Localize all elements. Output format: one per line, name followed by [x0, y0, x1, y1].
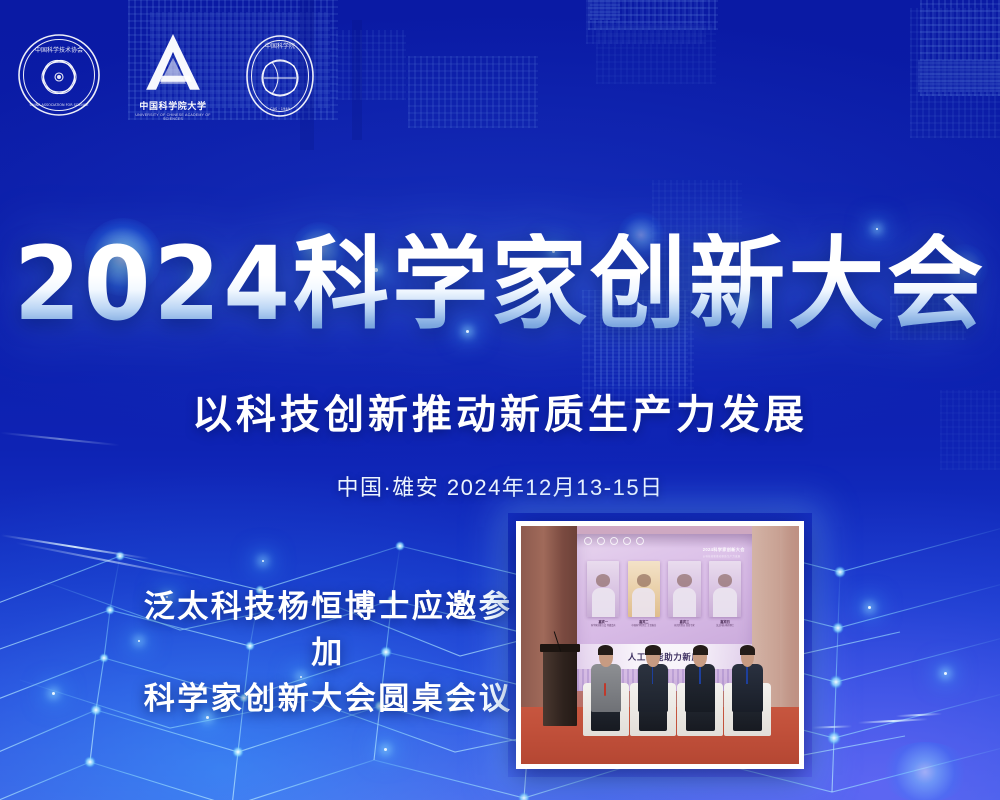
screen-logo-icon-4: [623, 537, 631, 545]
speaker-card: 嘉宾四 泛太科技 杨恒博士: [709, 561, 741, 643]
photo-panelist: [730, 645, 766, 731]
svg-text:中国科学院: 中国科学院: [265, 42, 295, 50]
screen-logo-icon-1: [584, 537, 592, 545]
speaker-role: 科学家创新大会 特邀嘉宾: [591, 625, 616, 628]
conference-poster: 中国科学技术协会 CHINA ASSOCIATION FOR SCIENCE 中…: [0, 0, 1000, 800]
subtitle: 以科技创新推动新质生产力发展: [0, 382, 1000, 440]
photo-panelist-lanyard: [652, 667, 654, 684]
screen-brand: 2024科学家创新大会 以科技创新推动新质生产力发展: [703, 547, 745, 558]
page-title: 2024科学家创新大会: [14, 233, 986, 335]
screen-logo-icon-3: [610, 537, 618, 545]
speaker-role: 研究院院长 首席专家: [674, 625, 694, 628]
academy-oval-seal-icon: 中国科学院 CAS · 1949: [244, 32, 316, 120]
speaker-card: 嘉宾二 中国科学院院士 主旨报告: [628, 561, 660, 643]
speaker-card: 嘉宾三 研究院院长 首席专家: [668, 561, 700, 643]
speaker-name: 嘉宾二: [639, 619, 649, 624]
photo-panelist-hair: [598, 645, 613, 655]
triangle-logo-subline: UNIVERSITY OF CHINESE ACADEMY OF SCIENCE…: [126, 114, 220, 122]
photo-scene: 2024科学家创新大会 以科技创新推动新质生产力发展 嘉宾一 科学家创新大会 特…: [521, 526, 799, 764]
organizer-logo-row: 中国科学技术协会 CHINA ASSOCIATION FOR SCIENCE 中…: [16, 32, 316, 124]
triangle-logo-abbrev: 中国科学院大学: [139, 101, 206, 111]
screen-logo-icon-2: [597, 537, 605, 545]
caption-line-2: 科学家创新大会圆桌会议: [128, 676, 528, 722]
speaker-role: 泛太科技 杨恒博士: [716, 625, 734, 628]
photo-panelist-hair: [740, 645, 755, 655]
screen-brand-title: 2024科学家创新大会: [703, 547, 745, 552]
photo-panelist-hair: [645, 645, 660, 655]
speaker-name: 嘉宾三: [680, 619, 690, 624]
svg-text:CHINA ASSOCIATION FOR SCIENCE: CHINA ASSOCIATION FOR SCIENCE: [30, 103, 89, 107]
svg-text:中国科学技术协会: 中国科学技术协会: [35, 46, 83, 54]
speaker-role: 中国科学院院士 主旨报告: [632, 625, 657, 628]
photo-panelist: [635, 645, 671, 731]
speaker-name: 嘉宾四: [720, 619, 730, 624]
photo-panelist-lanyard: [746, 667, 748, 684]
location-date-line: 中国·雄安 2024年12月13-15日: [0, 470, 1000, 502]
roundtable-photo[interactable]: 2024科学家创新大会 以科技创新推动新质生产力发展 嘉宾一 科学家创新大会 特…: [516, 521, 804, 769]
speaker-card: 嘉宾一 科学家创新大会 特邀嘉宾: [587, 561, 619, 643]
photo-panelist: [588, 645, 624, 731]
photo-wall-right-edge: [780, 526, 799, 707]
screen-speaker-cards: 嘉宾一 科学家创新大会 特邀嘉宾 嘉宾二 中国科学院院士 主旨报告 嘉宾三 研究…: [587, 561, 741, 643]
screen-logo-icon-5: [636, 537, 644, 545]
screen-brand-sub: 以科技创新推动新质生产力发展: [703, 554, 745, 558]
svg-text:CAS · 1949: CAS · 1949: [270, 107, 291, 111]
speaker-portrait: [628, 561, 660, 617]
triangle-institute-logo-icon: 中国科学院大学 UNIVERSITY OF CHINESE ACADEMY OF…: [126, 32, 220, 122]
speaker-portrait: [587, 561, 619, 617]
main-title-wrap: 2024科学家创新大会: [0, 236, 1000, 332]
caption-line-1: 泛太科技杨恒博士应邀参加: [128, 584, 528, 676]
speaker-name: 嘉宾一: [598, 619, 608, 624]
caption-block: 泛太科技杨恒博士应邀参加 科学家创新大会圆桌会议: [128, 584, 528, 722]
china-association-science-technology-seal-icon: 中国科学技术协会 CHINA ASSOCIATION FOR SCIENCE: [16, 32, 102, 118]
speaker-portrait: [709, 561, 741, 617]
speaker-portrait: [668, 561, 700, 617]
photo-panelist: [682, 645, 718, 731]
photo-panelist-hair: [693, 645, 708, 655]
photo-panelist-lanyard: [699, 667, 701, 684]
screen-logo-icons: [584, 537, 644, 545]
photo-podium: [543, 650, 576, 726]
